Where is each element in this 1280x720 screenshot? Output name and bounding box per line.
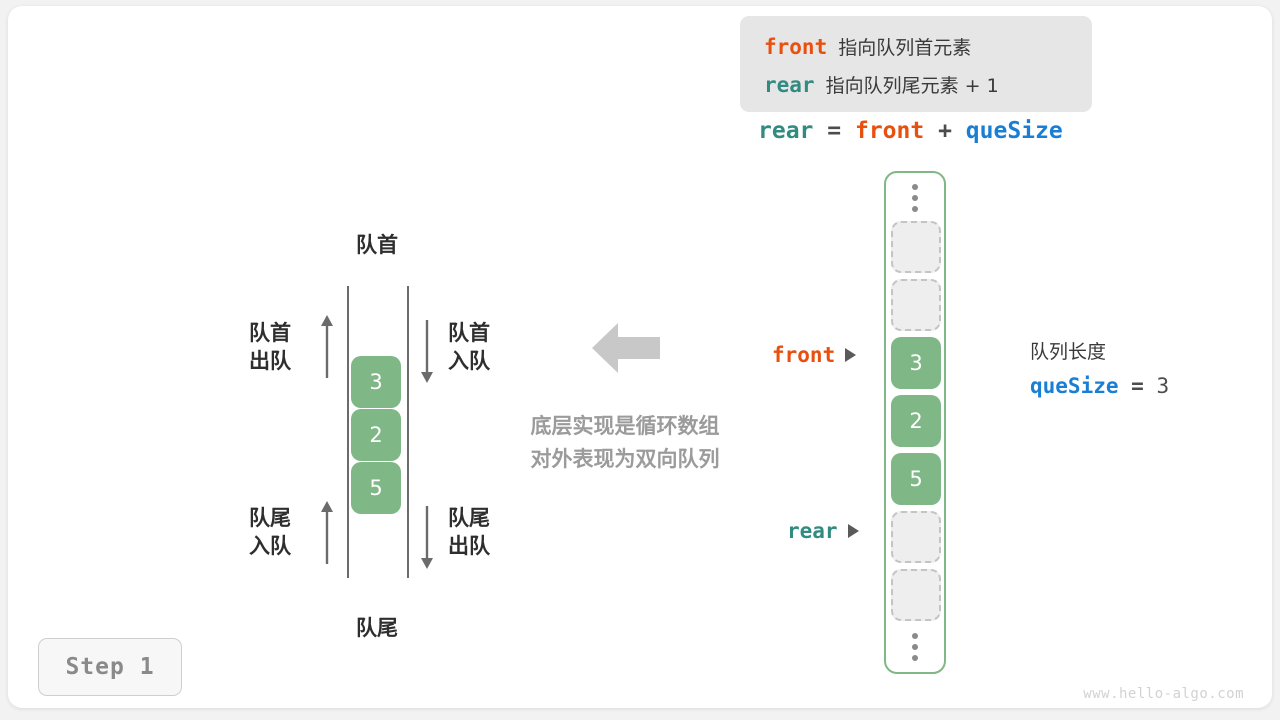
deque-cell-0: 3 bbox=[351, 356, 401, 408]
deque-op-rear-push-line2: 入队 bbox=[249, 533, 291, 561]
legend-line-rear: rear 指向队列尾元素 + 1 bbox=[764, 71, 999, 98]
step-badge-label: Step 1 bbox=[65, 654, 154, 680]
pointer-rear-label: rear bbox=[787, 519, 838, 543]
deque-op-rear-push-arrow-up-icon bbox=[316, 498, 338, 566]
center-note-line2: 对外表现为双向队列 bbox=[500, 443, 750, 476]
array-cell-3-value: 2 bbox=[909, 409, 922, 433]
deque-op-front-push-line1: 队首 bbox=[448, 320, 490, 348]
deque-op-front-push-label: 队首 入队 bbox=[448, 320, 490, 375]
deque-rail-left bbox=[347, 286, 349, 578]
deque-op-front-pop-line2: 出队 bbox=[249, 348, 291, 376]
deque-op-rear-pop-arrow-down-icon bbox=[416, 504, 438, 572]
deque-op-front-push-line2: 入队 bbox=[448, 348, 490, 376]
legend-text-front: 指向队列首元素 bbox=[838, 33, 971, 60]
transform-arrow-left-icon bbox=[592, 320, 660, 376]
deque-cell-1-value: 2 bbox=[369, 423, 382, 447]
queue-size-note: 队列长度 queSize = 3 bbox=[1030, 337, 1169, 398]
array-top-ellipsis-icon bbox=[886, 181, 944, 215]
legend-note-box: front 指向队列首元素 rear 指向队列尾元素 + 1 bbox=[740, 16, 1092, 112]
queue-size-value: 3 bbox=[1156, 374, 1169, 398]
formula-rear-equation: rear = front + queSize bbox=[758, 118, 1063, 144]
deque-op-rear-pop-line1: 队尾 bbox=[448, 505, 490, 533]
deque-cell-2-value: 5 bbox=[369, 476, 382, 500]
queue-size-equation: queSize = 3 bbox=[1030, 374, 1169, 398]
legend-text-rear: 指向队列尾元素 + 1 bbox=[826, 71, 999, 98]
array-cell-2: 3 bbox=[891, 337, 941, 389]
deque-cell-2: 5 bbox=[351, 462, 401, 514]
diagram-canvas: front 指向队列首元素 rear 指向队列尾元素 + 1 rear = fr… bbox=[0, 0, 1280, 720]
deque-op-front-push-arrow-down-icon bbox=[416, 318, 438, 386]
deque-cell-1: 2 bbox=[351, 409, 401, 461]
deque-rail-right bbox=[407, 286, 409, 578]
array-cell-4: 5 bbox=[891, 453, 941, 505]
center-note-line1: 底层实现是循环数组 bbox=[500, 410, 750, 443]
legend-line-front: front 指向队列首元素 bbox=[764, 33, 971, 60]
queue-size-equals: = bbox=[1131, 374, 1144, 398]
deque-op-front-pop-arrow-up-icon bbox=[316, 312, 338, 380]
deque-op-rear-pop-label: 队尾 出队 bbox=[448, 505, 490, 560]
array-cell-5 bbox=[891, 511, 941, 563]
center-note: 底层实现是循环数组 对外表现为双向队列 bbox=[500, 410, 750, 475]
array-cell-1 bbox=[891, 279, 941, 331]
array-cell-6 bbox=[891, 569, 941, 621]
formula-quesize: queSize bbox=[966, 118, 1063, 144]
pointer-rear-arrow-icon bbox=[848, 524, 859, 538]
formula-rear: rear bbox=[758, 118, 813, 144]
array-bottom-ellipsis-icon bbox=[886, 630, 944, 664]
step-badge: Step 1 bbox=[38, 638, 182, 696]
circular-array-frame: 3 2 5 bbox=[884, 171, 946, 674]
pointer-front-arrow-icon bbox=[845, 348, 856, 362]
formula-front: front bbox=[855, 118, 924, 144]
pointer-front-label: front bbox=[772, 343, 835, 367]
deque-cell-0-value: 3 bbox=[369, 370, 382, 394]
array-cell-0 bbox=[891, 221, 941, 273]
watermark: www.hello-algo.com bbox=[1083, 686, 1244, 702]
deque-bottom-caption: 队尾 bbox=[356, 612, 398, 642]
array-cell-2-value: 3 bbox=[909, 351, 922, 375]
deque-op-rear-push-label: 队尾 入队 bbox=[249, 505, 291, 560]
array-cell-3: 2 bbox=[891, 395, 941, 447]
array-cell-4-value: 5 bbox=[909, 467, 922, 491]
formula-equals: = bbox=[827, 118, 841, 144]
formula-plus: + bbox=[938, 118, 952, 144]
deque-op-front-pop-line1: 队首 bbox=[249, 320, 291, 348]
deque-op-rear-push-line1: 队尾 bbox=[249, 505, 291, 533]
queue-size-name: queSize bbox=[1030, 374, 1119, 398]
queue-size-title: 队列长度 bbox=[1030, 337, 1169, 364]
deque-top-caption: 队首 bbox=[356, 229, 398, 259]
legend-keyword-rear: rear bbox=[764, 73, 815, 97]
legend-keyword-front: front bbox=[764, 35, 827, 59]
deque-op-front-pop-label: 队首 出队 bbox=[249, 320, 291, 375]
pointer-rear: rear bbox=[787, 519, 859, 543]
pointer-front: front bbox=[772, 343, 856, 367]
deque-op-rear-pop-line2: 出队 bbox=[448, 533, 490, 561]
